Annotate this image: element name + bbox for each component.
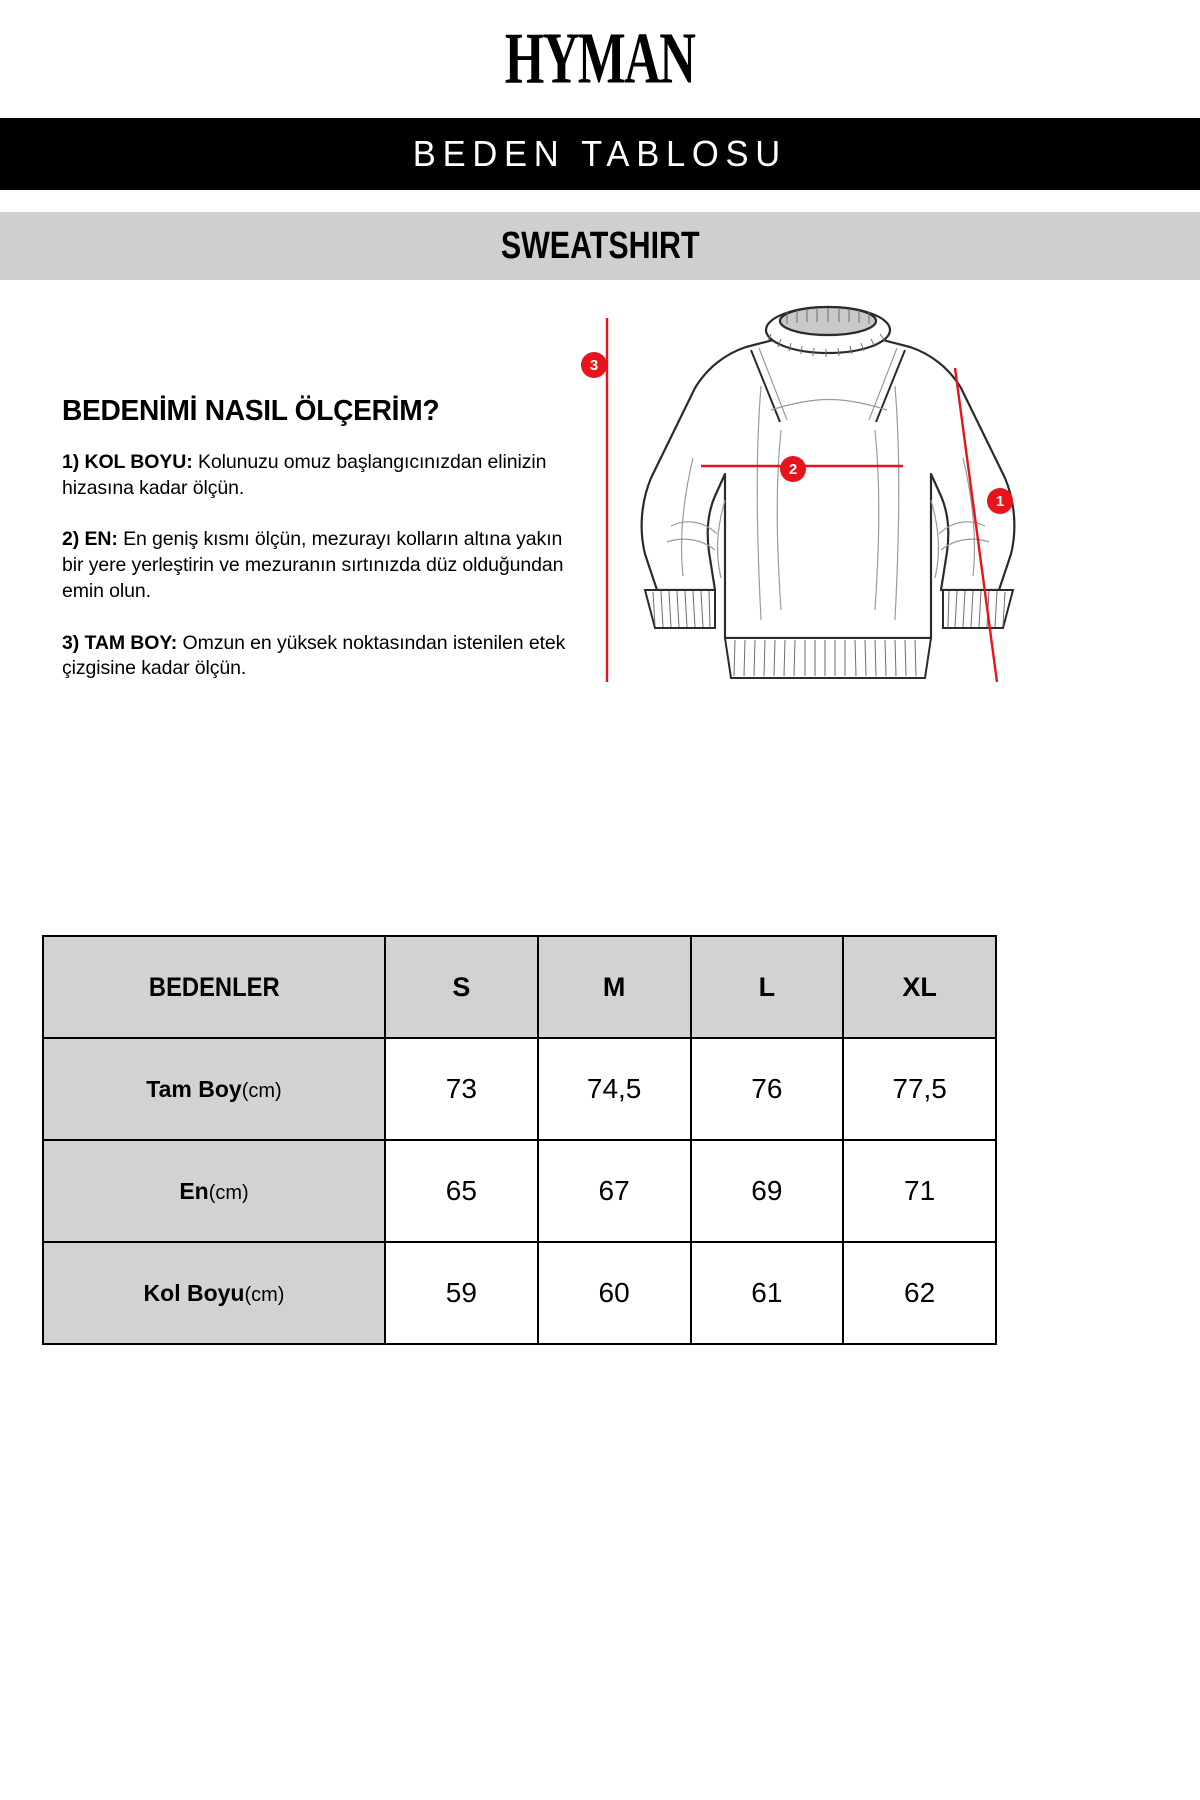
instruction-item-3: 3) TAM BOY: Omzun en yüksek noktasından … bbox=[62, 631, 572, 682]
cell-kol-boyu-xl: 62 bbox=[843, 1242, 996, 1344]
header-cell-m: M bbox=[538, 936, 691, 1038]
howto-instructions: BEDENİMİ NASIL ÖLÇERİM? 1) KOL BOYU: Kol… bbox=[62, 395, 572, 708]
table-row: En(cm) 65 67 69 71 bbox=[43, 1140, 996, 1242]
instruction-2-num: 2) bbox=[62, 528, 79, 550]
instruction-2-text: En geniş kısmı ölçün, mezurayı kolların … bbox=[62, 528, 563, 601]
cell-tam-boy-l: 76 bbox=[691, 1038, 844, 1140]
instruction-item-1: 1) KOL BOYU: Kolunuzu omuz başlangıcınız… bbox=[62, 450, 572, 501]
header-cell-sizes: BEDENLER bbox=[43, 936, 385, 1038]
cell-en-s: 65 bbox=[385, 1140, 538, 1242]
header-cell-xl: XL bbox=[843, 936, 996, 1038]
instruction-item-2: 2) EN: En geniş kısmı ölçün, mezurayı ko… bbox=[62, 527, 572, 604]
sweatshirt-drawing-svg bbox=[575, 290, 1135, 720]
header-label-l: L bbox=[759, 972, 776, 1002]
size-table-body: Tam Boy(cm) 73 74,5 76 77,5 En(cm) 65 67… bbox=[43, 1038, 996, 1344]
cell-kol-boyu-s: 59 bbox=[385, 1242, 538, 1344]
header-label-xl: XL bbox=[902, 972, 937, 1002]
size-table-head: BEDENLER S M L XL bbox=[43, 936, 996, 1038]
header-label-bedenler: BEDENLER bbox=[149, 972, 280, 1003]
row-label-en: En(cm) bbox=[43, 1140, 385, 1242]
cell-en-m: 67 bbox=[538, 1140, 691, 1242]
cell-tam-boy-m: 74,5 bbox=[538, 1038, 691, 1140]
row-label-tam-boy: Tam Boy(cm) bbox=[43, 1038, 385, 1140]
measurement-guide-section: BEDENİMİ NASIL ÖLÇERİM? 1) KOL BOYU: Kol… bbox=[0, 280, 1200, 940]
sweatshirt-illustration: 3 2 1 bbox=[575, 290, 1135, 720]
size-table-container: BEDENLER S M L XL Tam Boy(cm) 73 74,5 76… bbox=[42, 935, 997, 1345]
band-spacer bbox=[0, 190, 1200, 212]
cell-en-l: 69 bbox=[691, 1140, 844, 1242]
instruction-3-term: TAM BOY: bbox=[84, 632, 177, 654]
cell-en-xl: 71 bbox=[843, 1140, 996, 1242]
cell-tam-boy-xl: 77,5 bbox=[843, 1038, 996, 1140]
row-label-text: En bbox=[179, 1178, 208, 1204]
row-label-kol-boyu: Kol Boyu(cm) bbox=[43, 1242, 385, 1344]
instruction-1-term: KOL BOYU: bbox=[84, 451, 192, 473]
row-label-unit: (cm) bbox=[242, 1080, 282, 1102]
table-row: Kol Boyu(cm) 59 60 61 62 bbox=[43, 1242, 996, 1344]
row-label-text: Kol Boyu bbox=[144, 1280, 245, 1306]
header-label-m: M bbox=[603, 972, 626, 1002]
instruction-2-term: EN: bbox=[84, 528, 117, 550]
cell-kol-boyu-m: 60 bbox=[538, 1242, 691, 1344]
row-label-unit: (cm) bbox=[209, 1182, 249, 1204]
brand-logo: HYMAN bbox=[505, 22, 694, 95]
measurement-marker-2: 2 bbox=[780, 456, 806, 482]
instruction-3-num: 3) bbox=[62, 632, 79, 654]
size-table: BEDENLER S M L XL Tam Boy(cm) 73 74,5 76… bbox=[42, 935, 997, 1345]
page-title: BEDEN TABLOSU bbox=[413, 133, 787, 175]
table-header-row: BEDENLER S M L XL bbox=[43, 936, 996, 1038]
row-label-unit: (cm) bbox=[244, 1284, 284, 1306]
measurement-marker-1: 1 bbox=[987, 488, 1013, 514]
row-label-text: Tam Boy bbox=[146, 1076, 241, 1102]
brand-header: HYMAN bbox=[0, 0, 1200, 118]
table-row: Tam Boy(cm) 73 74,5 76 77,5 bbox=[43, 1038, 996, 1140]
product-category-band: SWEATSHIRT bbox=[0, 212, 1200, 280]
header-cell-l: L bbox=[691, 936, 844, 1038]
page-title-band: BEDEN TABLOSU bbox=[0, 118, 1200, 190]
header-label-s: S bbox=[452, 972, 470, 1002]
product-category: SWEATSHIRT bbox=[501, 225, 700, 268]
cell-tam-boy-s: 73 bbox=[385, 1038, 538, 1140]
measurement-marker-3: 3 bbox=[581, 352, 607, 378]
instruction-1-num: 1) bbox=[62, 451, 79, 473]
howto-heading: BEDENİMİ NASIL ÖLÇERİM? bbox=[62, 395, 557, 428]
cell-kol-boyu-l: 61 bbox=[691, 1242, 844, 1344]
header-cell-s: S bbox=[385, 936, 538, 1038]
